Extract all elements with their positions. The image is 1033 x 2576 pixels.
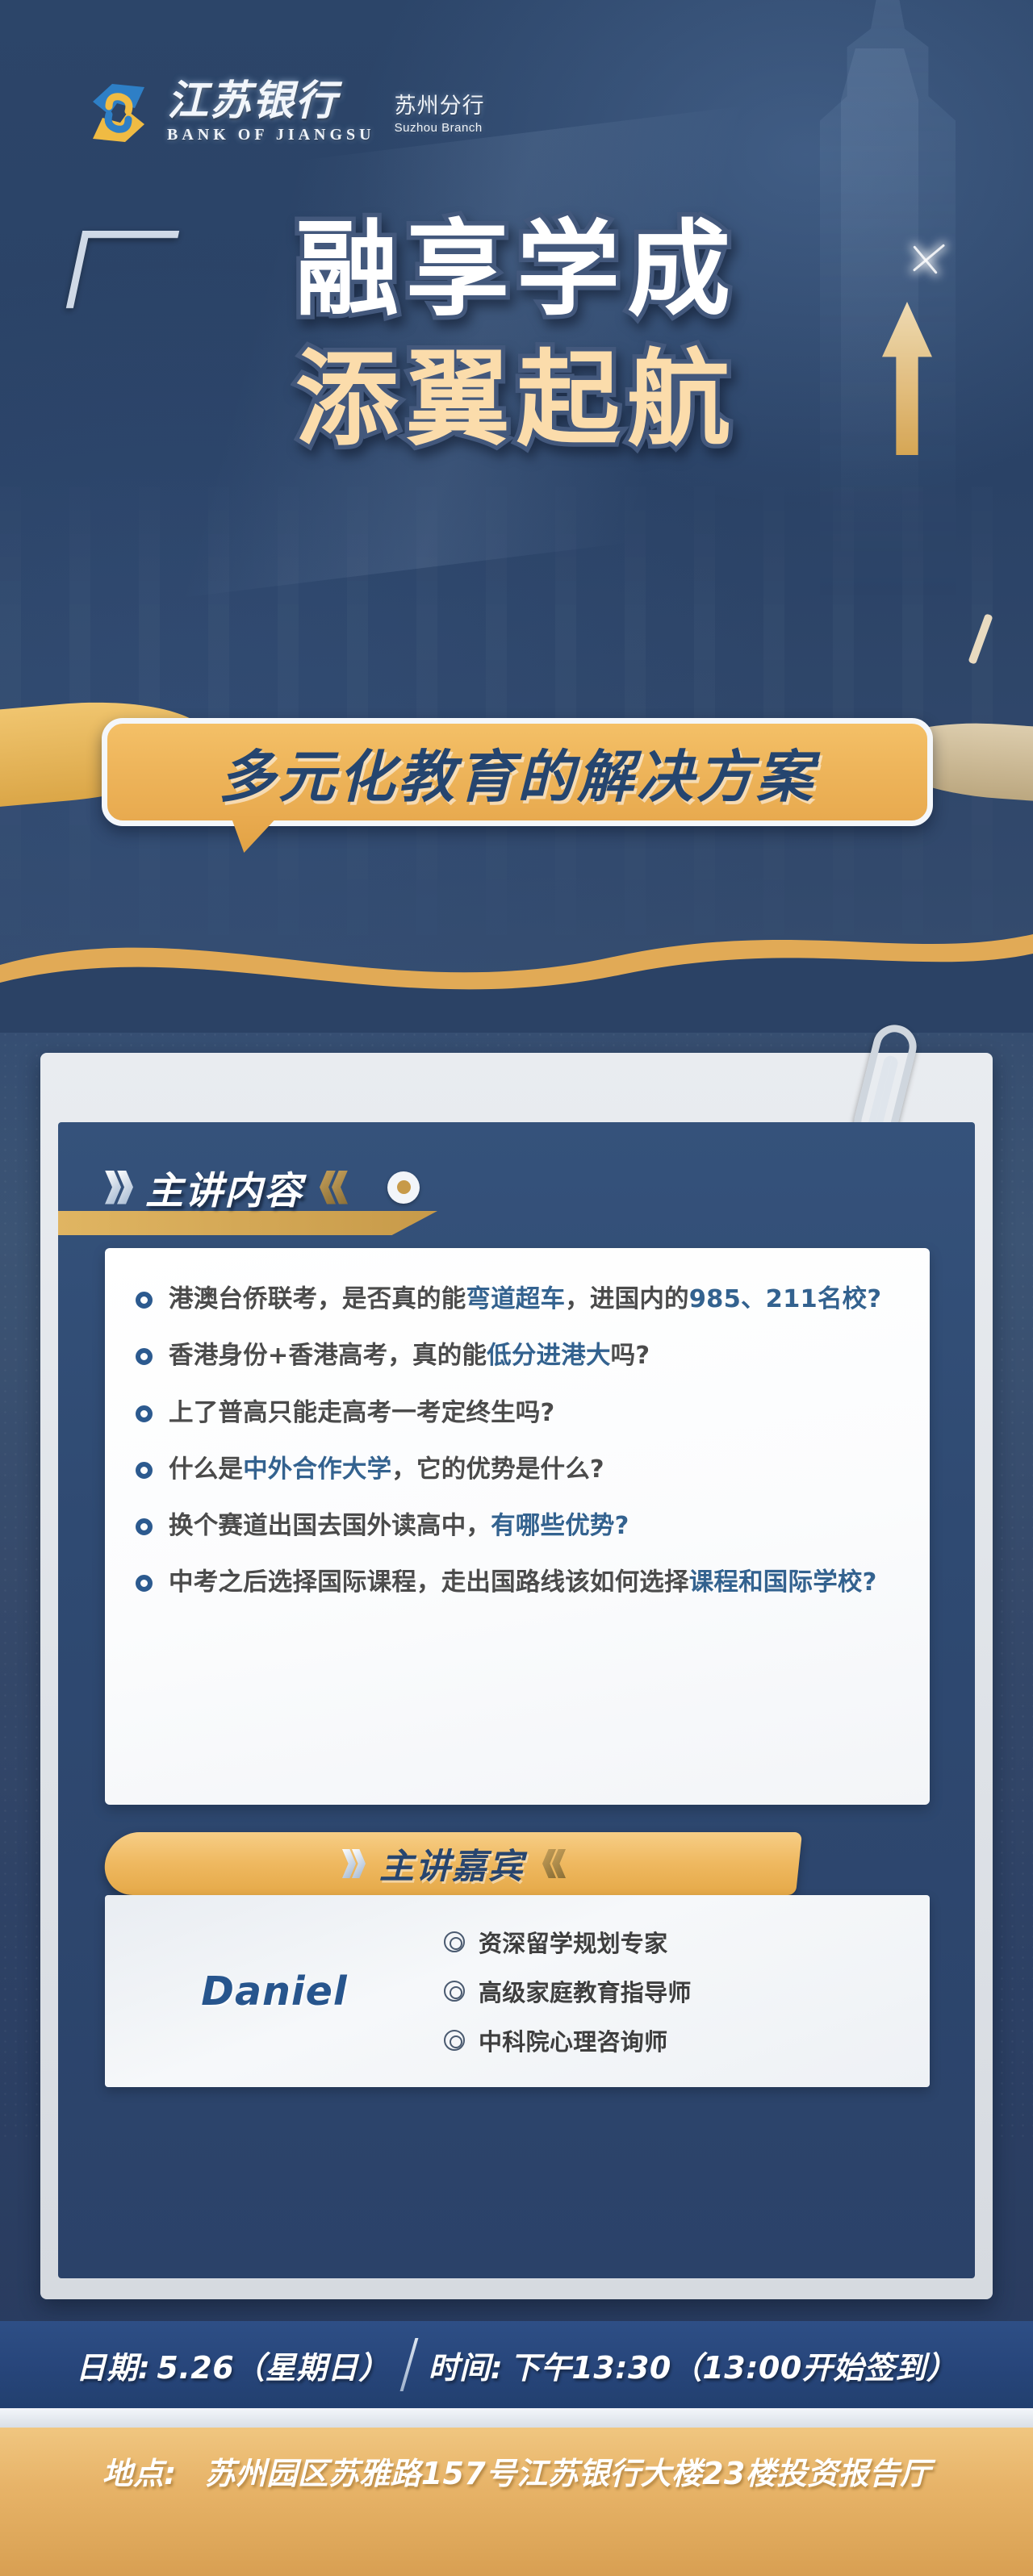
subtitle-plaque-wrapper: 多元化教育的解决方案 [102, 718, 933, 826]
location-bar: 地点: 苏州园区苏雅路157号江苏银行大楼23楼投资报告厅 [0, 2428, 1033, 2576]
brand-lockup: 江苏银行 BANK OF JIANGSU 苏州分行 Suzhou Branch [0, 79, 1033, 147]
branch-block: 苏州分行 Suzhou Branch [395, 91, 485, 135]
guest-credentials-list: 资深留学规划专家高级家庭教育指导师中科院心理咨询师 [444, 1925, 692, 2057]
date-label: 日期: [76, 2343, 151, 2387]
gold-wave-divider [0, 887, 1033, 1033]
topic-list-item-text: 上了普高只能走高考一考定终生吗? [169, 1396, 554, 1430]
plain-phrase: ，它的优势是什么? [391, 1455, 604, 1484]
divider-slash [399, 2338, 418, 2391]
content-card-inner: 主讲内容 港澳台侨联考，是否真的能弯道超车，进国内的985、211名校?香港身份… [58, 1122, 975, 2278]
place-label: 地点: [102, 2456, 177, 2491]
header: 江苏银行 BANK OF JIANGSU 苏州分行 Suzhou Branch [0, 79, 1033, 176]
date-time-bar: 日期: 5.26（星期日） 时间: 下午13:30（13:00开始签到） [0, 2321, 1033, 2408]
guest-credential-item: 高级家庭教育指导师 [444, 1974, 692, 2008]
content-section-title: 主讲内容 [145, 1159, 303, 1215]
date-time-text: 日期: 5.26（星期日） 时间: 下午13:30（13:00开始签到） [76, 2338, 958, 2391]
branch-name-cn: 苏州分行 [395, 94, 485, 119]
guest-section-banner: 主讲嘉宾 [102, 1832, 802, 1895]
guest-credential-text: 资深留学规划专家 [479, 1925, 667, 1959]
branch-name-en: Suzhou Branch [395, 121, 485, 135]
main-content-card: 主讲内容 港澳台侨联考，是否真的能弯道超车，进国内的985、211名校?香港身份… [40, 1053, 993, 2299]
guest-credential-item: 中科院心理咨询师 [444, 2023, 692, 2057]
highlighted-phrase: 中外合作大学 [243, 1455, 391, 1484]
guest-panel: Daniel 资深留学规划专家高级家庭教育指导师中科院心理咨询师 [105, 1895, 930, 2087]
ring-bullet-icon [136, 1348, 153, 1365]
hero-title-line1: 融享学成 [0, 218, 1033, 324]
guest-credential-text: 高级家庭教育指导师 [479, 1974, 692, 2008]
guest-section-title: 主讲嘉宾 [379, 1839, 525, 1889]
topic-list-item-text: 港澳台侨联考，是否真的能弯道超车，进国内的985、211名校? [169, 1282, 881, 1317]
brand-name-en: BANK OF JIANGSU [167, 126, 375, 144]
plain-phrase: 港澳台侨联考，是否真的能 [169, 1285, 466, 1313]
plain-phrase: 香港身份+香港高考，真的能 [169, 1342, 487, 1370]
brand-name-cn: 江苏银行 [167, 81, 375, 123]
ring-bullet-icon [136, 1405, 153, 1422]
plain-phrase: 换个赛道出国去国外读高中， [169, 1512, 491, 1540]
location-text: 地点: 苏州园区苏雅路157号江苏银行大楼23楼投资报告厅 [102, 2449, 931, 2493]
ring-bullet-icon [136, 1292, 153, 1309]
topic-list-item: 上了普高只能走高考一考定终生吗? [136, 1396, 894, 1430]
topic-list-item-text: 换个赛道出国去国外读高中，有哪些优势? [169, 1509, 629, 1543]
hero-title-line2: 添翼起航 [0, 348, 1033, 453]
topic-list-panel: 港澳台侨联考，是否真的能弯道超车，进国内的985、211名校?香港身份+香港高考… [105, 1248, 930, 1805]
plain-phrase: 吗? [611, 1342, 650, 1370]
hero-title-group: 融享学成 添翼起航 [0, 218, 1033, 453]
time-value: 下午13:30（13:00开始签到） [509, 2343, 957, 2387]
guest-credential-text: 中科院心理咨询师 [479, 2023, 667, 2057]
double-chevron-right-icon [105, 1171, 129, 1204]
highlighted-phrase: 低分进港大 [487, 1342, 611, 1370]
subtitle-plaque: 多元化教育的解决方案 [102, 718, 933, 826]
topic-list-item-text: 香港身份+香港高考，真的能低分进港大吗? [169, 1338, 650, 1373]
circle-dot-badge-icon [387, 1171, 420, 1204]
guest-double-chevron-left-icon [542, 1849, 562, 1878]
double-ring-bullet-icon [444, 1931, 465, 1952]
ring-bullet-icon [136, 1462, 153, 1479]
highlighted-phrase: 985、211名校? [689, 1285, 882, 1313]
brand-text-block: 江苏银行 BANK OF JIANGSU [167, 81, 375, 144]
plain-phrase: 什么是 [169, 1455, 243, 1484]
content-section-header: 主讲内容 [105, 1159, 420, 1215]
highlighted-phrase: 弯道超车 [466, 1285, 565, 1313]
date-value: 5.26（星期日） [157, 2343, 389, 2387]
ring-bullet-icon [136, 1518, 153, 1535]
footer-divider-strip [0, 2408, 1033, 2428]
topic-list-item: 中考之后选择国际课程，走出国路线该如何选择课程和国际学校? [136, 1565, 894, 1600]
double-ring-bullet-icon [444, 1981, 465, 2002]
plain-phrase: ，进国内的 [565, 1285, 689, 1313]
topic-list-item: 港澳台侨联考，是否真的能弯道超车，进国内的985、211名校? [136, 1282, 894, 1317]
topic-list-item: 换个赛道出国去国外读高中，有哪些优势? [136, 1509, 894, 1543]
subtitle-text: 多元化教育的解决方案 [219, 732, 816, 813]
highlighted-phrase: 课程和国际学校? [689, 1568, 877, 1597]
topic-list: 港澳台侨联考，是否真的能弯道超车，进国内的985、211名校?香港身份+香港高考… [136, 1282, 894, 1601]
topic-list-item: 香港身份+香港高考，真的能低分进港大吗? [136, 1338, 894, 1373]
place-value: 苏州园区苏雅路157号江苏银行大楼23楼投资报告厅 [205, 2456, 931, 2491]
bank-of-jiangsu-logo-icon [85, 79, 153, 147]
time-label: 时间: [429, 2343, 504, 2387]
topic-list-item-text: 什么是中外合作大学，它的优势是什么? [169, 1452, 604, 1487]
plain-phrase: 中考之后选择国际课程，走出国路线该如何选择 [169, 1568, 689, 1597]
guest-name: Daniel [105, 1969, 444, 2014]
topic-list-item-text: 中考之后选择国际课程，走出国路线该如何选择课程和国际学校? [169, 1565, 877, 1600]
highlighted-phrase: 有哪些优势? [491, 1512, 629, 1540]
double-chevron-left-icon [320, 1171, 344, 1204]
poster-root: 江苏银行 BANK OF JIANGSU 苏州分行 Suzhou Branch … [0, 0, 1033, 2576]
topic-list-item: 什么是中外合作大学，它的优势是什么? [136, 1452, 894, 1487]
guest-credential-item: 资深留学规划专家 [444, 1925, 692, 1959]
guest-double-chevron-right-icon [342, 1849, 362, 1878]
double-ring-bullet-icon [444, 2030, 465, 2051]
plain-phrase: 上了普高只能走高考一考定终生吗? [169, 1399, 554, 1427]
ring-bullet-icon [136, 1575, 153, 1592]
